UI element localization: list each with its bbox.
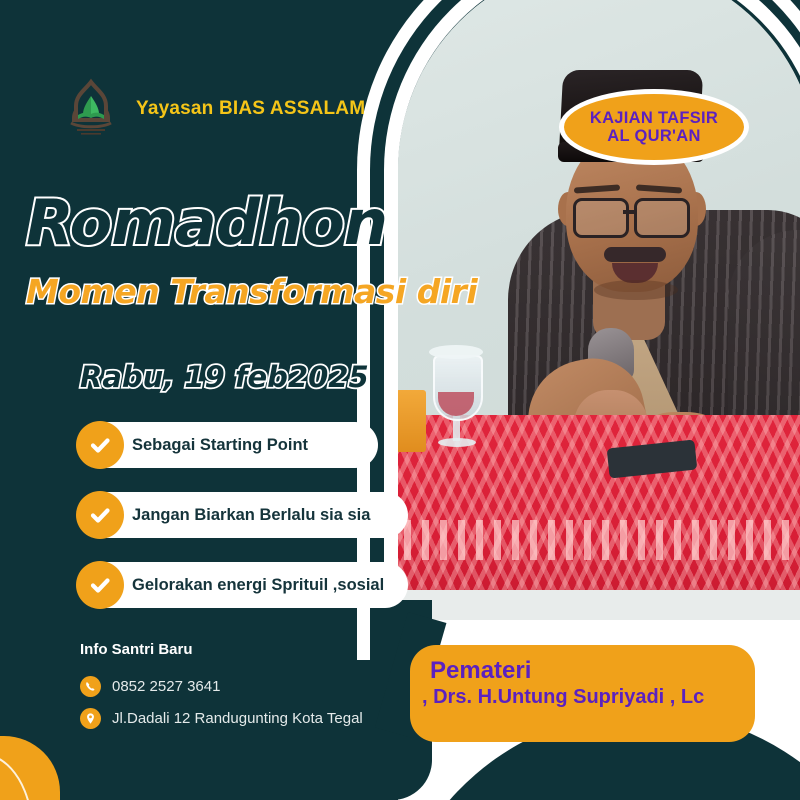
photo-table-lace xyxy=(398,520,800,560)
list-item-label: Gelorakan energi Sprituil ,sosial xyxy=(132,576,384,595)
contact-phone-value: 0852 2527 3641 xyxy=(112,678,220,695)
page-subtitle: Momen Transformasi diri xyxy=(26,272,477,311)
badge-line-1: KAJIAN TAFSIR xyxy=(590,109,718,127)
list-item: Gelorakan energi Sprituil ,sosial xyxy=(78,562,408,608)
corner-orange-decoration xyxy=(0,736,60,800)
check-icon xyxy=(76,491,124,539)
phone-icon xyxy=(80,676,101,697)
contact-phone-row: 0852 2527 3641 xyxy=(80,676,220,697)
speaker-photo xyxy=(398,0,800,625)
speaker-label: Pemateri xyxy=(430,657,735,685)
photo-orange-cup xyxy=(398,390,426,452)
badge-line-2: AL QUR'AN xyxy=(607,127,700,145)
contact-address-value: Jl.Dadali 12 Randugunting Kota Tegal xyxy=(112,710,363,727)
organization-name: Yayasan BIAS ASSALAM xyxy=(136,98,365,120)
event-poster: KAJIAN TAFSIR AL QUR'AN Yayasan BIAS ASS… xyxy=(0,0,800,800)
corner-arc-line xyxy=(0,754,34,800)
contact-address-row: Jl.Dadali 12 Randugunting Kota Tegal xyxy=(80,708,363,729)
event-date: Rabu, 19 feb2025 xyxy=(80,360,369,394)
check-icon xyxy=(76,421,124,469)
photo-glass-base xyxy=(438,438,476,447)
page-title: Romadhon xyxy=(26,186,387,259)
list-item-label: Sebagai Starting Point xyxy=(132,436,308,455)
photo-speaker-glasses-right xyxy=(634,198,690,238)
check-icon xyxy=(76,561,124,609)
photo-speaker-chin-shadow xyxy=(594,280,678,300)
speaker-info-box: Pemateri , Drs. H.Untung Supriyadi , Lc xyxy=(410,645,755,742)
kajian-tafsir-badge: KAJIAN TAFSIR AL QUR'AN xyxy=(559,89,749,165)
list-item: Jangan Biarkan Berlalu sia sia xyxy=(78,492,408,538)
photo-speaker-glasses-bridge xyxy=(623,210,636,214)
list-item: Sebagai Starting Point xyxy=(78,422,378,468)
photo-speaker-moustache xyxy=(604,247,666,262)
organization-header: Yayasan BIAS ASSALAM xyxy=(58,76,365,142)
list-item-label: Jangan Biarkan Berlalu sia sia xyxy=(132,506,370,525)
speaker-name: , Drs. H.Untung Supriyadi , Lc xyxy=(422,685,735,710)
location-pin-icon xyxy=(80,708,101,729)
photo-glass-lid xyxy=(429,345,483,359)
photo-speaker-glasses-left xyxy=(573,198,629,238)
mosque-dome-book-logo-icon xyxy=(58,76,124,142)
contact-heading: Info Santri Baru xyxy=(80,641,193,658)
